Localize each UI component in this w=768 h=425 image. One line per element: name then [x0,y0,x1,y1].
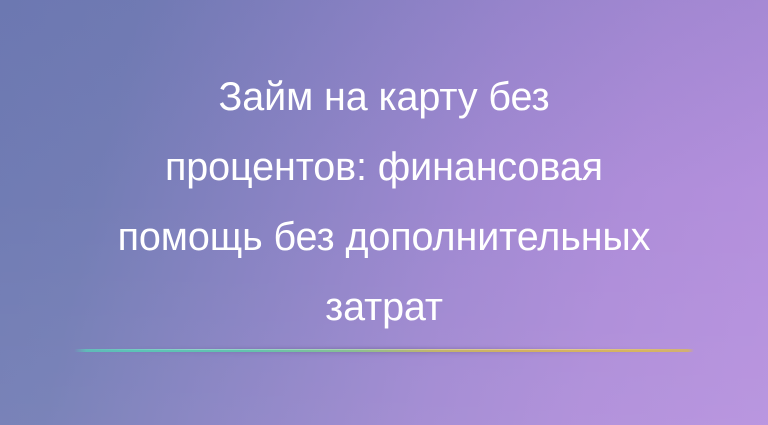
banner-content: Займ на карту без процентов: финансовая … [0,0,768,425]
divider [0,341,768,363]
divider-line [74,349,694,352]
page-title: Займ на карту без процентов: финансовая … [24,62,744,342]
title-banner: Займ на карту без процентов: финансовая … [0,0,768,425]
